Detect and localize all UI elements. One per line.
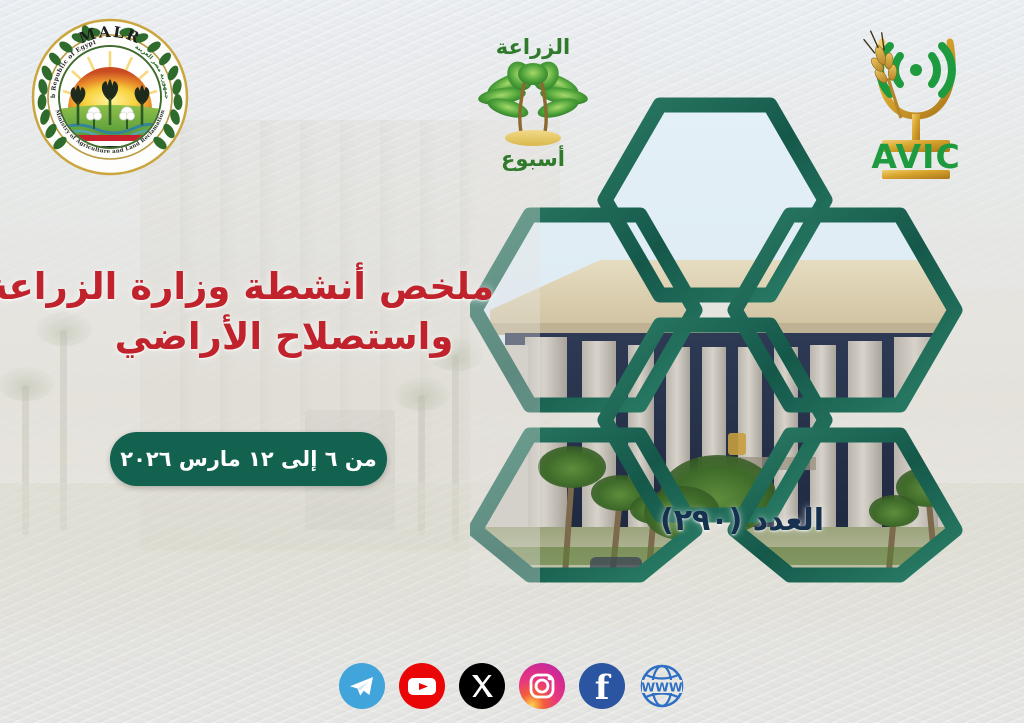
youtube-icon[interactable] — [399, 663, 445, 709]
agriculture-week-logo: الزراعة أسبوع — [468, 18, 598, 178]
agri-week-bottom-word: أسبوع — [501, 144, 565, 171]
facebook-icon[interactable]: f — [579, 663, 625, 709]
malr-seal: MALR Arab Republic of Egypt جمهورية مصر … — [30, 17, 190, 177]
instagram-icon[interactable] — [519, 663, 565, 709]
issue-number: العدد (٢٩٠) — [660, 503, 824, 538]
facebook-f-glyph: f — [595, 671, 610, 705]
x-twitter-icon[interactable] — [459, 663, 505, 709]
globe-www-icon[interactable]: WWW — [639, 663, 685, 709]
page-title-line-2: واستصلاح الأراضي — [74, 312, 494, 362]
malr-seal-svg: MALR Arab Republic of Egypt جمهورية مصر … — [30, 17, 190, 177]
date-range-text: من ٦ إلى ١٢ مارس ٢٠٢٦ — [120, 447, 377, 471]
agriculture-week-logo-svg: الزراعة أسبوع — [468, 18, 598, 178]
avic-logo-svg: AVIC — [838, 18, 993, 183]
page-title-line-1: ملخص أنشطة وزارة الزراعة — [74, 262, 494, 312]
social-links-bar: WWW f — [0, 663, 1024, 709]
telegram-icon[interactable] — [339, 663, 385, 709]
avic-logo: AVIC — [838, 18, 993, 183]
agri-week-top-word: الزراعة — [496, 35, 571, 59]
www-label: WWW — [641, 680, 683, 695]
bulletin-cover-poster: MALR Arab Republic of Egypt جمهورية مصر … — [0, 0, 1024, 723]
date-range-badge: من ٦ إلى ١٢ مارس ٢٠٢٦ — [110, 432, 387, 486]
avic-acronym: AVIC — [871, 137, 960, 176]
page-title: ملخص أنشطة وزارة الزراعة واستصلاح الأراض… — [74, 262, 494, 361]
